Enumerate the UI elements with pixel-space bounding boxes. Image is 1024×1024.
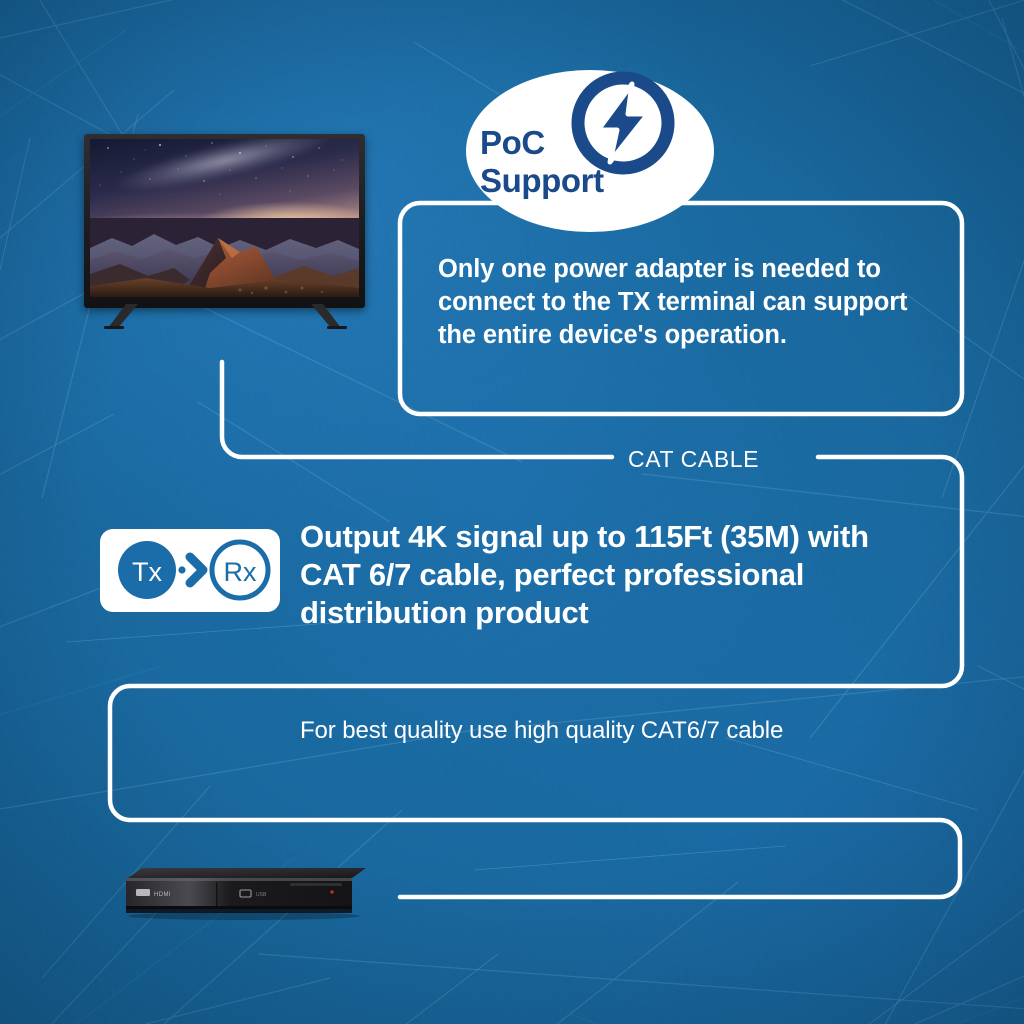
cat-cable-label: CAT CABLE bbox=[628, 446, 759, 473]
power-led bbox=[330, 890, 333, 893]
poc-panel-body: Only one power adapter is needed to conn… bbox=[438, 253, 946, 352]
arrow-dot bbox=[178, 566, 185, 573]
chevron-right-icon bbox=[190, 557, 203, 583]
television-display bbox=[84, 134, 365, 328]
footnote-text: For best quality use high quality CAT6/7… bbox=[300, 713, 820, 749]
lightning-bolt-icon bbox=[562, 62, 684, 184]
infographic-canvas: PoC Support Only one power adapter is ne… bbox=[0, 0, 1024, 1024]
headline-text: Output 4K signal up to 115Ft (35M) with … bbox=[300, 518, 910, 632]
tv-stand-legs bbox=[84, 304, 365, 330]
dvd-bluray-player: HDMI USB bbox=[120, 866, 370, 922]
mountain-landscape bbox=[90, 218, 359, 297]
tv-screen bbox=[90, 139, 359, 297]
tx-label: Tx bbox=[132, 557, 162, 587]
tx-rx-badge: Tx Rx bbox=[100, 529, 280, 612]
rx-label: Rx bbox=[224, 557, 257, 587]
svg-text:HDMI: HDMI bbox=[154, 892, 171, 898]
svg-text:USB: USB bbox=[256, 892, 267, 898]
poc-support-badge: PoC Support bbox=[466, 70, 714, 232]
